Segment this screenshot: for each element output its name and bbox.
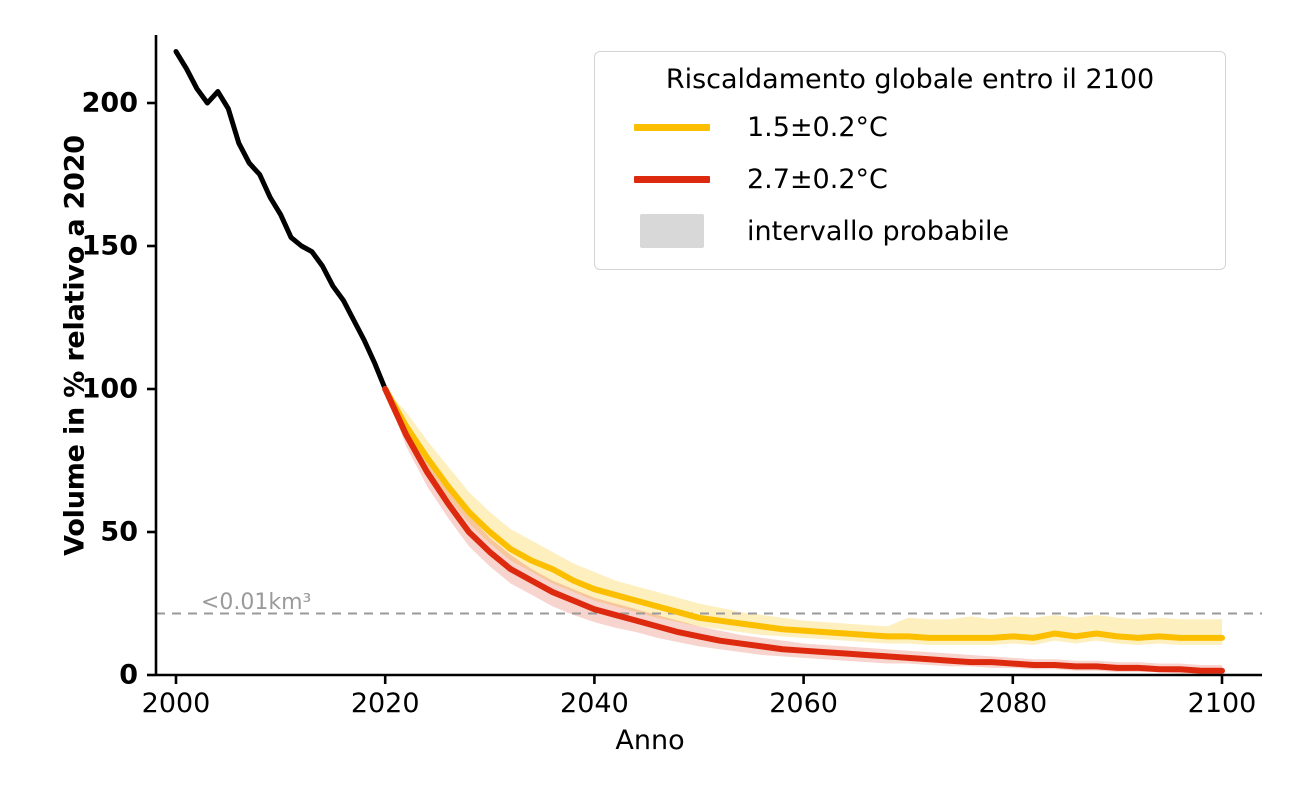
x-tick-label: 2040 bbox=[560, 688, 629, 719]
x-tick-label: 2000 bbox=[142, 688, 211, 719]
y-tick-label: 0 bbox=[119, 660, 138, 691]
legend-swatch bbox=[611, 214, 733, 248]
legend-swatch bbox=[611, 124, 733, 131]
line-warming_1_5 bbox=[385, 389, 1222, 638]
legend-patch-swatch bbox=[640, 214, 704, 248]
legend-entry-label: intervallo probabile bbox=[733, 216, 1009, 247]
threshold-annotation-label: <0.01km³ bbox=[201, 590, 311, 615]
chart-figure: 050100150200 200020202040206020802100 Vo… bbox=[0, 0, 1300, 800]
legend-entries: 1.5±0.2°C2.7±0.2°Cintervallo probabile bbox=[611, 101, 1209, 257]
line-storico bbox=[176, 52, 385, 389]
x-tick-label: 2080 bbox=[978, 688, 1047, 719]
legend-swatch bbox=[611, 176, 733, 183]
legend-line-swatch bbox=[634, 124, 710, 131]
legend-entry-label: 1.5±0.2°C bbox=[733, 112, 888, 143]
legend-entry[interactable]: intervallo probabile bbox=[611, 205, 1209, 257]
legend-entry-label: 2.7±0.2°C bbox=[733, 164, 888, 195]
legend-entry[interactable]: 2.7±0.2°C bbox=[611, 153, 1209, 205]
legend-line-swatch bbox=[634, 176, 710, 183]
x-tick-label: 2100 bbox=[1188, 688, 1257, 719]
legend-title: Riscaldamento globale entro il 2100 bbox=[611, 62, 1209, 101]
legend-entry[interactable]: 1.5±0.2°C bbox=[611, 101, 1209, 153]
chart-legend[interactable]: Riscaldamento globale entro il 2100 1.5±… bbox=[594, 51, 1226, 270]
x-tick-label: 2060 bbox=[769, 688, 838, 719]
y-tick-label: 50 bbox=[100, 517, 138, 548]
band-warming_1_5 bbox=[385, 389, 1222, 645]
y-axis-label: Volume in % relativo a 2020 bbox=[60, 66, 91, 626]
x-tick-label: 2020 bbox=[351, 688, 420, 719]
x-axis-label: Anno bbox=[0, 725, 1300, 756]
